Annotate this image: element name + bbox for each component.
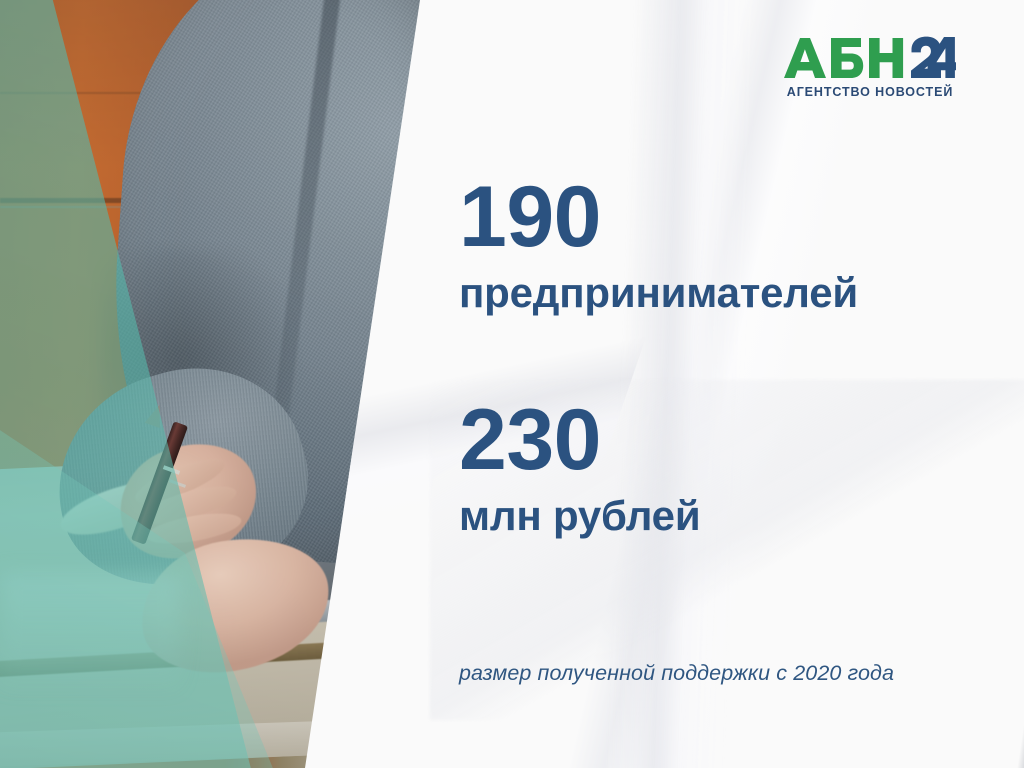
brand-logo[interactable]: АГЕНТСТВО НОВОСТЕЙ (784, 34, 956, 99)
stats-spacer (459, 315, 979, 401)
stat-block-amount: 230 млн рублей (459, 401, 979, 538)
logo-tagline: АГЕНТСТВО НОВОСТЕЙ (784, 85, 956, 99)
stat-label-entrepreneurs: предпринимателей (459, 271, 979, 315)
stat-number-190: 190 (459, 178, 979, 257)
stat-block-entrepreneurs: 190 предпринимателей (459, 178, 979, 315)
caption-text: размер полученной поддержки с 2020 года (459, 661, 894, 686)
stat-label-million-rubles: млн рублей (459, 494, 979, 538)
infographic-card: АГЕНТСТВО НОВОСТЕЙ 190 предпринимателей … (0, 0, 1024, 768)
abn24-logo-icon (784, 34, 956, 82)
stats-group: 190 предпринимателей 230 млн рублей (459, 178, 979, 538)
stat-number-230: 230 (459, 401, 979, 480)
